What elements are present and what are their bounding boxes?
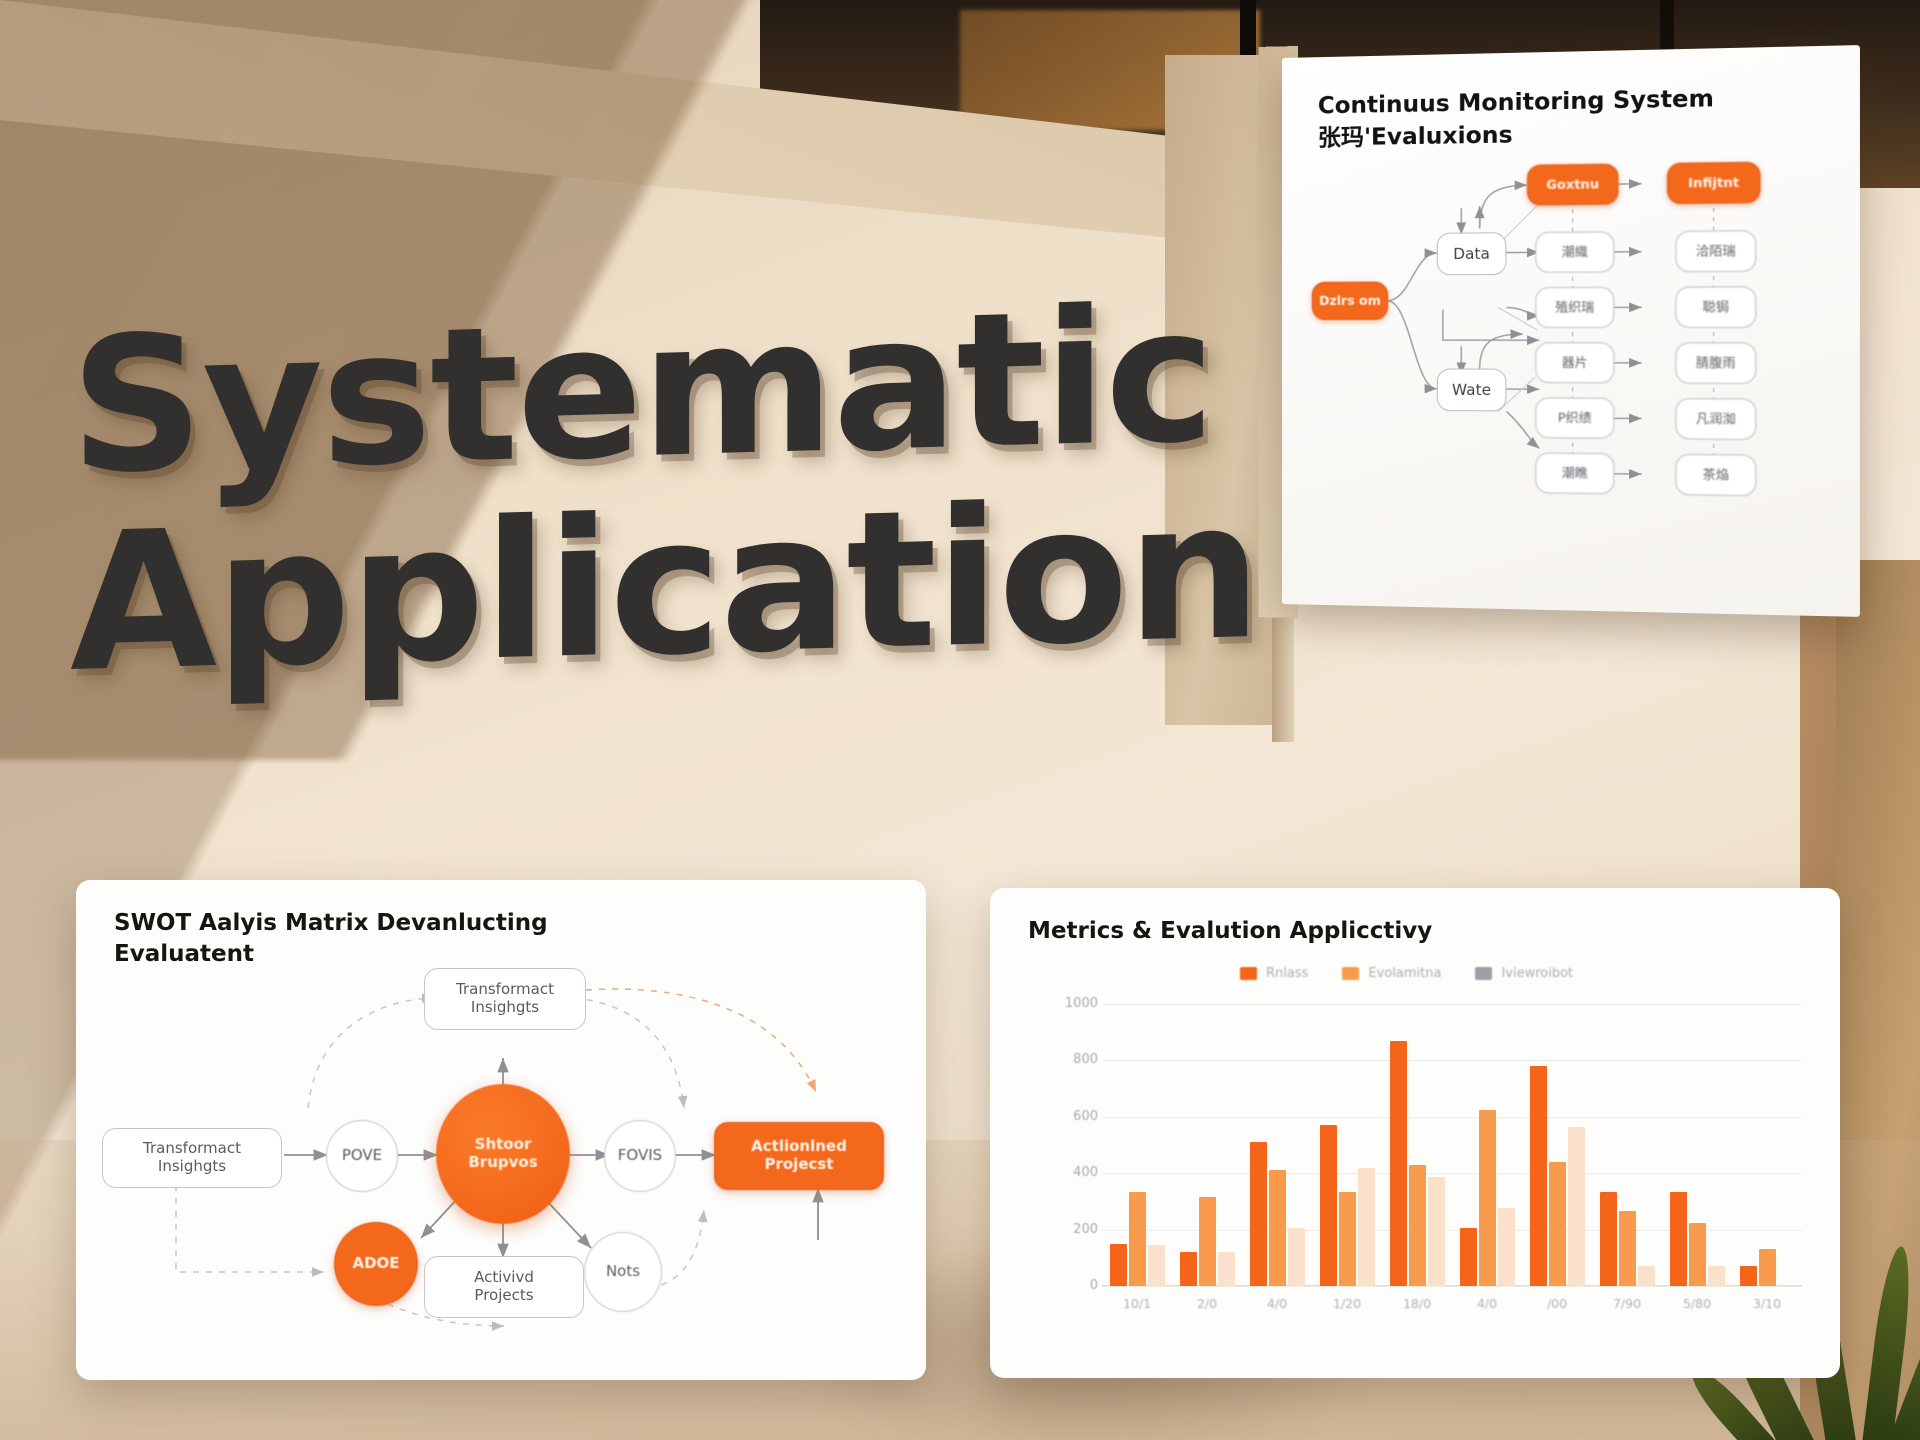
y-tick-0: 0	[1038, 1278, 1098, 1293]
bar-Evolamitna-3/10[interactable]	[1759, 1249, 1776, 1286]
bar-Evolamitna-4/0[interactable]	[1269, 1170, 1286, 1286]
bar-Evolamitna-1/20[interactable]	[1339, 1192, 1356, 1286]
y-tick-1000: 1000	[1038, 996, 1098, 1011]
bar-Iviewroibot-4/0[interactable]	[1498, 1208, 1515, 1286]
bar-Rnlass-7/90[interactable]	[1600, 1192, 1617, 1286]
monitoring-board: Continuus Monitoring System 张玛'Evaluxion…	[1282, 45, 1860, 617]
board-node-infijtnt[interactable]: Infijtnt	[1667, 162, 1761, 205]
bar-Rnlass-18/0[interactable]	[1390, 1041, 1407, 1286]
x-tick-3: 1/20	[1311, 1296, 1383, 1311]
swot-node-center[interactable]: Shtoor Brupvos	[436, 1084, 570, 1224]
board-node-r4c3[interactable]: 凡润洳	[1675, 398, 1756, 440]
board-node-waste[interactable]: Wate	[1437, 368, 1507, 411]
bar-Rnlass-3/10[interactable]	[1740, 1266, 1757, 1286]
bar-Rnlass-/00[interactable]	[1530, 1066, 1547, 1286]
board-node-r5c3[interactable]: 茶焔	[1675, 454, 1756, 496]
y-tick-400: 400	[1038, 1165, 1098, 1180]
photo-scene: Systematic Application Continuus Monitor…	[0, 0, 1920, 1440]
swot-node-nots[interactable]: Nots	[584, 1232, 662, 1312]
bar-Rnlass-2/0[interactable]	[1180, 1252, 1197, 1286]
bar-chart-plot: 0200400600800100010/12/04/01/2018/04/0/0…	[1102, 1004, 1802, 1286]
metrics-card-title: Metrics & Evalution Applicctivy	[1028, 916, 1648, 947]
swot-node-pove[interactable]: POVE	[326, 1120, 398, 1192]
swot-node-bottom[interactable]: Activivd Projects	[424, 1256, 584, 1318]
x-tick-5: 4/0	[1451, 1296, 1523, 1311]
swot-node-adoe[interactable]: ADOE	[334, 1222, 418, 1306]
swot-node-input[interactable]: Transformact Insighgts	[102, 1128, 282, 1188]
board-node-data[interactable]: Data	[1437, 232, 1507, 275]
board-node-goxtnu[interactable]: Goxtnu	[1527, 164, 1619, 206]
bar-Iviewroibot-/00[interactable]	[1568, 1127, 1585, 1286]
legend-item-2[interactable]: Iviewroibot	[1475, 966, 1573, 981]
board-node-r4c2[interactable]: P织绩	[1535, 397, 1614, 439]
board-node-r1c2[interactable]: 潮織	[1535, 231, 1614, 272]
bar-Evolamitna-4/0[interactable]	[1479, 1110, 1496, 1286]
legend-label-0: Rnlass	[1266, 966, 1308, 981]
gridline-1000	[1102, 1004, 1802, 1005]
chart-legend: RnlassEvolamitnaIviewroibot	[1240, 966, 1573, 981]
legend-item-1[interactable]: Evolamitna	[1342, 966, 1441, 981]
x-tick-4: 18/0	[1381, 1296, 1453, 1311]
y-tick-200: 200	[1038, 1222, 1098, 1237]
x-tick-9: 3/10	[1731, 1296, 1803, 1311]
bar-Rnlass-5/80[interactable]	[1670, 1192, 1687, 1286]
legend-label-1: Evolamitna	[1368, 966, 1441, 981]
board-node-r1c3[interactable]: 洽陌瑞	[1675, 230, 1756, 272]
swot-card: SWOT Aalyis Matrix Devanlucting Evaluate…	[76, 880, 926, 1380]
bar-Evolamitna-5/80[interactable]	[1689, 1223, 1706, 1286]
metrics-card: Metrics & Evalution Applicctivy RnlassEv…	[990, 888, 1840, 1378]
x-tick-2: 4/0	[1241, 1296, 1313, 1311]
gridline-0	[1102, 1286, 1802, 1287]
gridline-800	[1102, 1060, 1802, 1061]
legend-label-2: Iviewroibot	[1501, 966, 1573, 981]
bar-Iviewroibot-1/20[interactable]	[1358, 1168, 1375, 1286]
bar-Evolamitna-2/0[interactable]	[1199, 1197, 1216, 1286]
gridline-600	[1102, 1117, 1802, 1118]
board-node-r3c2[interactable]: 器片	[1535, 342, 1614, 383]
swot-node-focus[interactable]: FOVIS	[604, 1120, 676, 1192]
bar-Evolamitna-18/0[interactable]	[1409, 1165, 1426, 1286]
legend-swatch-1	[1342, 967, 1359, 980]
x-tick-8: 5/80	[1661, 1296, 1733, 1311]
bar-Evolamitna-10/1[interactable]	[1129, 1192, 1146, 1286]
bar-Rnlass-4/0[interactable]	[1460, 1228, 1477, 1286]
swot-node-top[interactable]: Transformact Insighgts	[424, 968, 586, 1030]
legend-swatch-2	[1475, 967, 1492, 980]
bar-Iviewroibot-4/0[interactable]	[1288, 1228, 1305, 1286]
bar-Rnlass-4/0[interactable]	[1250, 1142, 1267, 1286]
board-node-r2c3[interactable]: 聪锔	[1675, 286, 1756, 328]
wall-title-line-2: Application	[70, 477, 1360, 695]
bar-Rnlass-1/20[interactable]	[1320, 1125, 1337, 1286]
x-tick-6: /00	[1521, 1296, 1593, 1311]
x-tick-0: 10/1	[1101, 1296, 1173, 1311]
x-tick-1: 2/0	[1171, 1296, 1243, 1311]
y-tick-800: 800	[1038, 1052, 1098, 1067]
board-node-r5c2[interactable]: 潮瞧	[1535, 452, 1614, 494]
board-node-r2c2[interactable]: 殖织瑞	[1535, 287, 1614, 328]
bar-Evolamitna-/00[interactable]	[1549, 1162, 1566, 1286]
bar-Iviewroibot-18/0[interactable]	[1428, 1177, 1445, 1286]
bar-Iviewroibot-10/1[interactable]	[1148, 1245, 1165, 1286]
wall-signage-title: Systematic Application	[70, 282, 1360, 695]
legend-swatch-0	[1240, 967, 1257, 980]
bar-Iviewroibot-7/90[interactable]	[1638, 1266, 1655, 1286]
board-node-source[interactable]: Dzlrs om	[1312, 282, 1388, 320]
y-tick-600: 600	[1038, 1109, 1098, 1124]
swot-node-result[interactable]: Actlionlned Projecst	[714, 1122, 884, 1190]
gridline-400	[1102, 1173, 1802, 1174]
bar-Iviewroibot-2/0[interactable]	[1218, 1252, 1235, 1286]
bar-Iviewroibot-5/80[interactable]	[1708, 1266, 1725, 1286]
x-tick-7: 7/90	[1591, 1296, 1663, 1311]
bar-Rnlass-10/1[interactable]	[1110, 1244, 1127, 1286]
board-node-r3c3[interactable]: 腈腹雨	[1675, 342, 1756, 384]
legend-item-0[interactable]: Rnlass	[1240, 966, 1308, 981]
board-connectors	[1282, 45, 1860, 617]
bar-Evolamitna-7/90[interactable]	[1619, 1211, 1636, 1286]
